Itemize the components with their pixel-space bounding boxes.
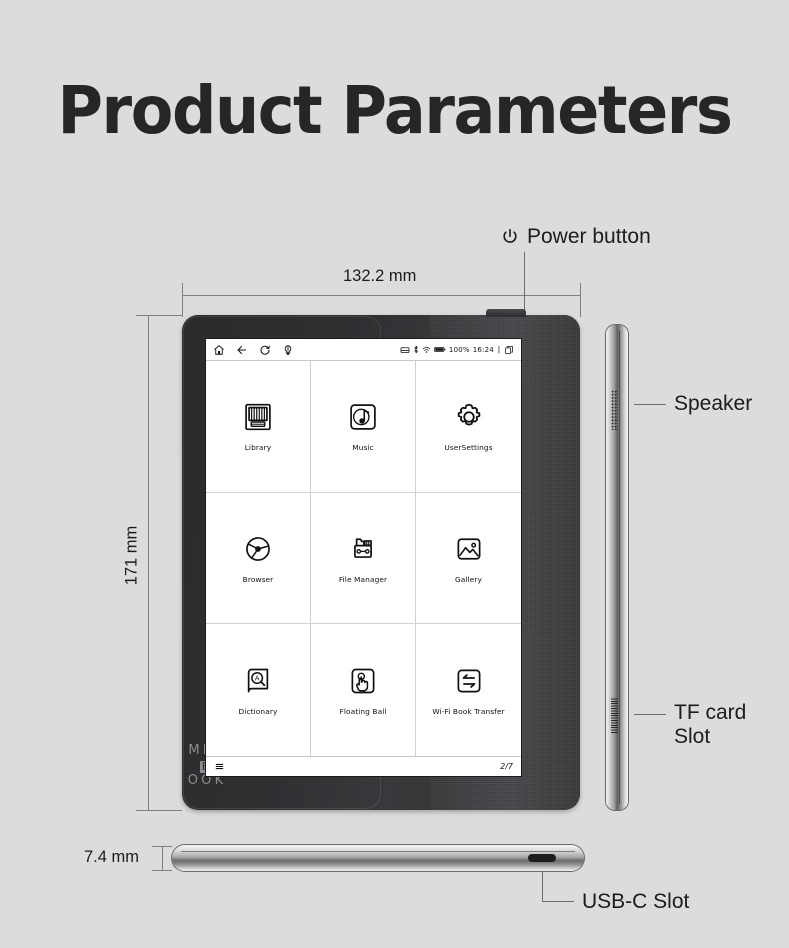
height-extension-top [148,315,182,316]
usb-c-leader-vertical [542,871,543,901]
app-cell-dictionary[interactable]: A Dictionary [206,624,311,756]
width-extension-right [580,295,581,317]
device-bottom-view [172,845,584,871]
gallery-icon [452,532,486,566]
tf-card-slot-callout: TF card Slot [674,701,746,750]
page-title: Product Parameters [24,72,766,149]
battery-icon [434,346,446,353]
device-side-screen-seam [619,331,620,804]
thickness-dimension-label: 7.4 mm [78,848,145,867]
clock: 16:24 [473,346,494,354]
power-button[interactable] [486,309,526,317]
thickness-dimension-tick-top [152,846,172,847]
app-label: Gallery [455,575,482,584]
file-manager-icon [346,532,380,566]
power-icon [500,227,520,247]
device-front-view: MEEBOOK [182,315,382,810]
width-dimension-line [182,295,580,296]
app-cell-music[interactable]: Music [311,361,416,493]
app-cell-usersettings[interactable]: UserSettings [416,361,521,493]
app-label: Dictionary [239,707,278,716]
usb-c-leader-horizontal [542,901,574,902]
app-label: Library [245,443,272,452]
app-cell-floating-ball[interactable]: Floating Ball [311,624,416,756]
device-bottom-shell [172,845,584,871]
thickness-dimension-line [162,846,163,870]
app-label: Wi-Fi Book Transfer [432,707,504,716]
back-arrow-icon[interactable] [236,344,248,356]
usb-c-slot-label: USB-C Slot [582,890,689,913]
gear-icon [452,400,486,434]
tf-card-slot-label-line1: TF card [674,701,746,725]
home-icon[interactable] [213,344,225,356]
app-cell-browser[interactable]: Browser [206,493,311,625]
bluetooth-icon [413,345,419,354]
battery-percent: 100% [449,346,470,354]
app-label: Floating Ball [339,707,386,716]
browser-icon [241,532,275,566]
app-label: File Manager [339,575,387,584]
app-label: Music [352,443,374,452]
dictionary-icon: A [241,664,275,698]
status-bar-left-icons [213,344,294,356]
power-button-leader-line [524,252,525,314]
refresh-icon[interactable] [259,344,271,356]
speaker [611,390,618,430]
usb-c-port[interactable] [528,854,556,862]
app-cell-library[interactable]: Library [206,361,311,493]
screen-bottom-bar: 2/7 [206,756,521,776]
brightness-icon[interactable] [282,344,294,356]
floating-ball-icon [346,664,380,698]
product-parameters-diagram: Product Parameters 132.2 mm 171 mm 7.4 m… [0,0,789,948]
hamburger-menu-icon[interactable] [214,761,225,772]
device-side-view [606,325,628,810]
speaker-callout: Speaker [674,392,752,416]
eink-screen[interactable]: 100% 16:24 | [206,339,521,776]
app-label: Browser [243,575,274,584]
app-cell-wifi-book-transfer[interactable]: Wi-Fi Book Transfer [416,624,521,756]
width-dimension-label: 132.2 mm [337,267,422,286]
power-button-label: Power button [527,225,651,249]
page-indicator: 2/7 [500,762,513,771]
tf-card-slot-leader-line [634,714,666,715]
app-label: UserSettings [444,443,492,452]
usb-c-slot-callout: USB-C Slot [582,890,689,914]
status-bar-right-indicators: 100% 16:24 | [400,345,514,355]
height-extension-bottom [148,810,182,811]
tf-card-slot-label-line2: Slot [674,725,746,749]
status-bar: 100% 16:24 | [206,339,521,361]
height-dimension-line [148,315,149,810]
wifi-icon [422,346,431,354]
wifi-transfer-icon [452,664,486,698]
status-bar-separator: | [498,345,500,354]
tf-card-slot[interactable] [611,697,618,733]
speaker-label: Speaker [674,392,752,415]
device-bottom-screen-seam [181,851,575,852]
height-dimension-label: 171 mm [122,520,141,592]
library-icon [241,400,275,434]
width-extension-left [182,295,183,317]
app-grid: Library Music [206,361,521,756]
app-cell-gallery[interactable]: Gallery [416,493,521,625]
music-icon [346,400,380,434]
svg-text:A: A [255,675,260,683]
power-button-callout: Power button [500,225,651,249]
speaker-leader-line [634,404,666,405]
app-switch-icon[interactable] [504,345,514,355]
thickness-dimension-tick-bottom [152,870,172,871]
sd-card-icon [400,346,410,354]
app-cell-file-manager[interactable]: File Manager [311,493,416,625]
